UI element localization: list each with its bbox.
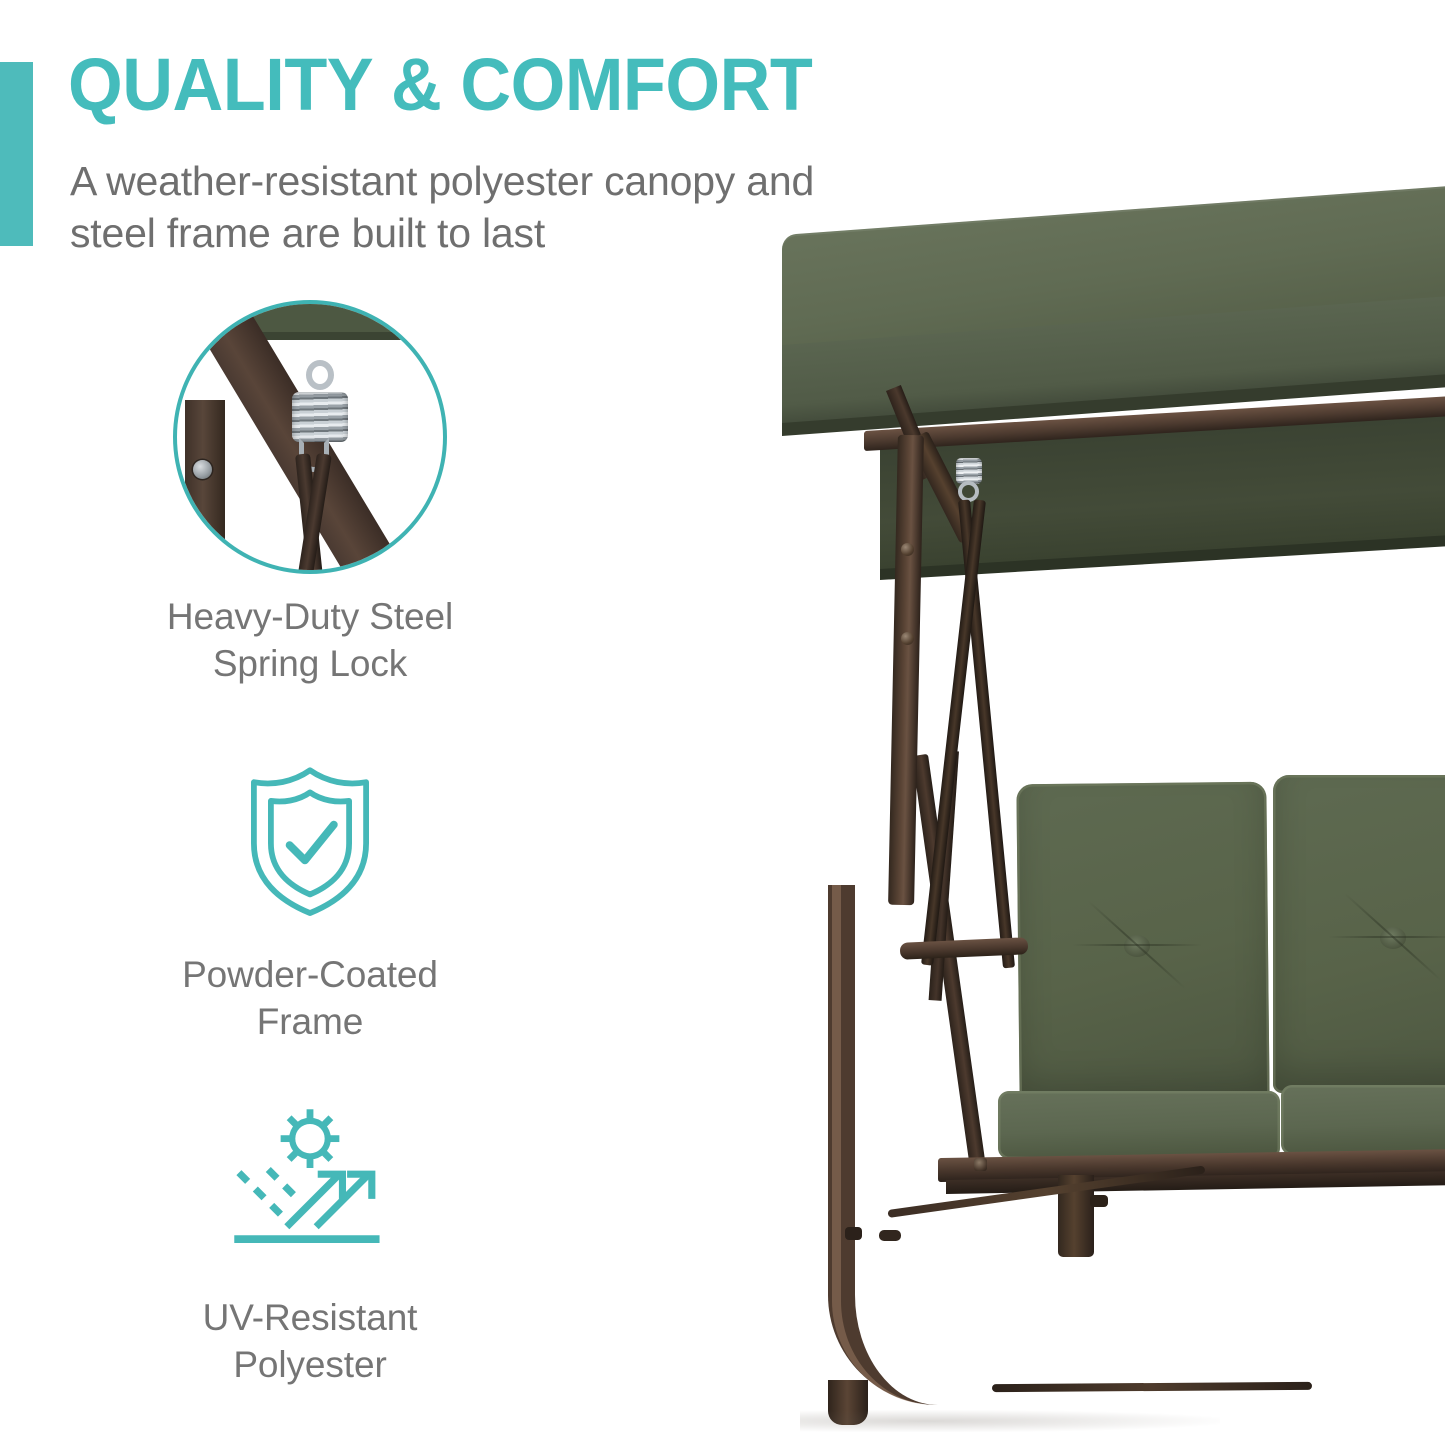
feature-label-uv-resistant-polyester: UV-Resistant Polyester xyxy=(60,1294,560,1389)
seat-cushion-left xyxy=(998,1091,1280,1159)
photo-spring-eye xyxy=(306,360,334,390)
seat-cushion-right xyxy=(1281,1085,1445,1155)
feature-label-powder-coated-frame: Powder-Coated Frame xyxy=(60,951,560,1046)
cross-brace-lower xyxy=(992,1382,1312,1392)
leg-bolt-right xyxy=(879,1230,901,1241)
photo-screw-head xyxy=(193,460,212,479)
sun-uv-reflect-icon xyxy=(225,1100,395,1270)
ground-shadow xyxy=(800,1410,1220,1432)
photo-steel-spring xyxy=(292,392,348,442)
feature-panel: QUALITY & COMFORT A weather-resistant po… xyxy=(0,0,1445,1445)
feature-item-uv-resistant-polyester: UV-Resistant Polyester xyxy=(60,1100,560,1389)
curved-leg-highlight xyxy=(832,885,936,1405)
back-cushion-right xyxy=(1273,775,1445,1093)
leg-bolt-left xyxy=(845,1227,862,1240)
cushion-tuft-left xyxy=(1124,935,1150,957)
feature-label-spring-lock: Heavy-Duty Steel Spring Lock xyxy=(60,593,560,688)
page-title: QUALITY & COMFORT xyxy=(68,48,923,122)
center-support-nub xyxy=(1090,1195,1108,1207)
product-photo-porch-swing xyxy=(760,195,1445,1445)
shield-check-icon xyxy=(225,755,395,925)
feature-item-spring-lock: Heavy-Duty Steel Spring Lock xyxy=(60,300,560,688)
photo-frame-post xyxy=(185,400,225,574)
cushion-tuft-right xyxy=(1380,927,1406,949)
leg-rivet-upper xyxy=(901,543,914,556)
spring-lock-photo-content xyxy=(177,304,443,570)
leg-rivet-lower xyxy=(901,632,914,645)
seat-frame-bolt xyxy=(974,1158,987,1171)
feature-item-powder-coated-frame: Powder-Coated Frame xyxy=(60,755,560,1046)
spring-lock-photo-circle xyxy=(173,300,447,574)
accent-bar xyxy=(0,62,33,246)
